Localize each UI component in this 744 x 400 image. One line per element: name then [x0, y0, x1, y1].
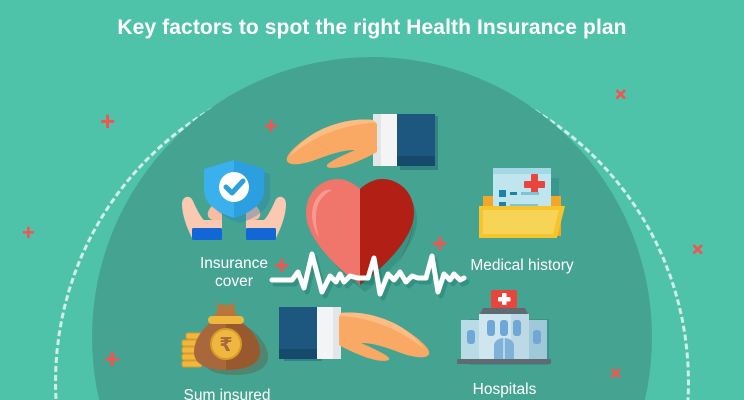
shield-in-hands-icon: [178, 158, 290, 249]
factor-label: Sum insured: [172, 387, 282, 400]
factor-sum-insured[interactable]: ₹ Sum insured: [172, 298, 282, 400]
cross-mark-icon: +: [684, 237, 711, 264]
factor-hospitals[interactable]: Hospitals: [447, 288, 562, 399]
open-hand-icon-bottom: [273, 305, 441, 365]
money-bag-icon: ₹: [172, 298, 282, 381]
factor-label: Insurance cover: [178, 255, 290, 292]
plus-mark-icon: +: [104, 345, 120, 373]
page-title: Key factors to spot the right Health Ins…: [0, 16, 744, 40]
factor-label: Medical history: [447, 257, 597, 275]
open-hand-icon-top: [285, 112, 445, 174]
plus-mark-icon: +: [264, 115, 278, 139]
hospital-building-icon: [447, 288, 562, 375]
ecg-line-icon: [268, 248, 466, 296]
plus-mark-icon: +: [100, 108, 115, 134]
infographic-canvas: +++++++++ Key factors to spot the right …: [0, 0, 744, 400]
factor-insurance-cover[interactable]: Insurance cover: [178, 158, 290, 292]
factor-medical-history[interactable]: Medical history: [447, 160, 597, 275]
medical-folder-icon: [447, 160, 597, 251]
currency-symbol: ₹: [219, 334, 232, 356]
plus-mark-icon: +: [22, 222, 35, 244]
factor-label: Hospitals: [447, 381, 562, 399]
cross-mark-icon: +: [607, 82, 634, 109]
